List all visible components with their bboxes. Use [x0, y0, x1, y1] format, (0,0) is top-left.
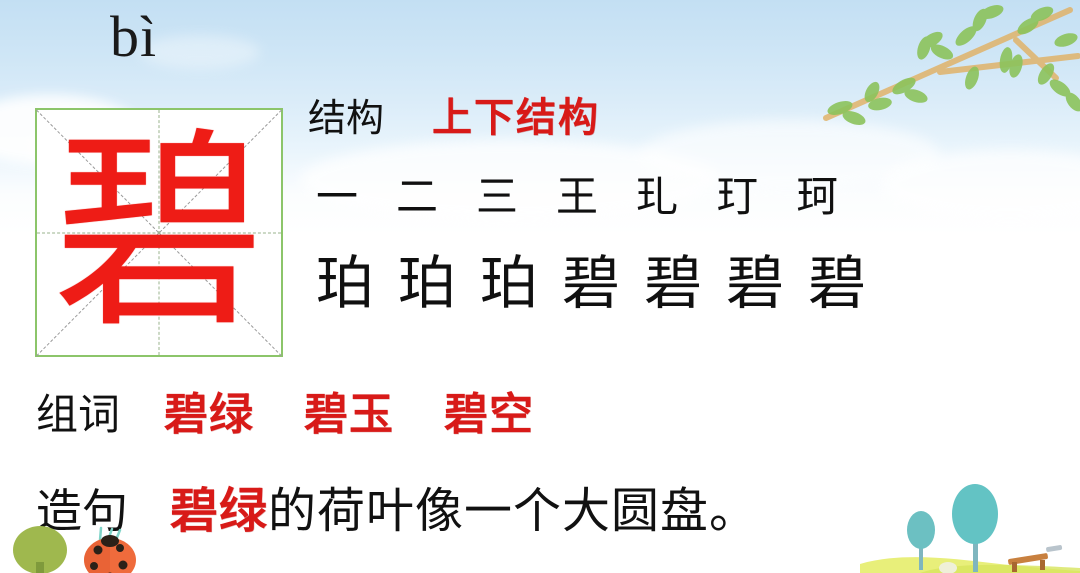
structure-row: 结构 上下结构 — [308, 98, 600, 138]
structure-value: 上下结构 — [432, 98, 600, 138]
vocabulary-label: 组词 — [36, 394, 120, 436]
sentence-text: 的荷叶像一个大圆盘。 — [268, 487, 758, 535]
pinyin-text: bì — [110, 8, 157, 66]
stroke-step: 玌 — [636, 176, 678, 218]
vocabulary-word: 碧玉 — [304, 393, 394, 437]
main-character: 碧 — [37, 110, 281, 355]
stroke-order-row-2: 珀 珀 珀 碧 碧 碧 碧 — [316, 254, 866, 312]
stroke-step: 玎 — [716, 176, 758, 218]
trees-and-hill-decoration — [860, 478, 1080, 573]
vocabulary-word: 碧绿 — [164, 393, 254, 437]
large-tree-icon — [952, 484, 998, 572]
stroke-step: 王 — [556, 176, 598, 218]
sentence-row: 造句 碧绿 的荷叶像一个大圆盘。 — [36, 487, 758, 535]
stroke-step: 一 — [316, 176, 358, 218]
stroke-step: 二 — [396, 176, 438, 218]
bench-icon — [1008, 545, 1063, 572]
character-grid-box: 碧 — [35, 108, 283, 357]
stroke-step: 珀 — [398, 254, 456, 312]
sentence-highlight: 碧绿 — [170, 487, 268, 535]
structure-label: 结构 — [308, 99, 384, 137]
stroke-step: 三 — [476, 176, 518, 218]
stroke-step: 珂 — [796, 176, 838, 218]
small-tree-icon — [907, 511, 935, 570]
stroke-step: 碧 — [644, 254, 702, 312]
vocabulary-row: 组词 碧绿 碧玉 碧空 — [36, 393, 534, 437]
vocabulary-word: 碧空 — [444, 393, 534, 437]
stroke-step: 珀 — [480, 254, 538, 312]
stroke-order-row-1: 一 二 三 王 玌 玎 珂 — [316, 176, 838, 218]
slide-canvas: bì 碧 结构 上下结构 一 二 三 王 玌 玎 珂 珀 珀 珀 碧 碧 碧 碧… — [0, 0, 1080, 573]
stroke-step: 碧 — [808, 254, 866, 312]
stroke-step: 碧 — [562, 254, 620, 312]
cloud-decoration — [140, 35, 260, 69]
sentence-label: 造句 — [36, 488, 128, 534]
stroke-step: 碧 — [726, 254, 784, 312]
stroke-step: 珀 — [316, 254, 374, 312]
